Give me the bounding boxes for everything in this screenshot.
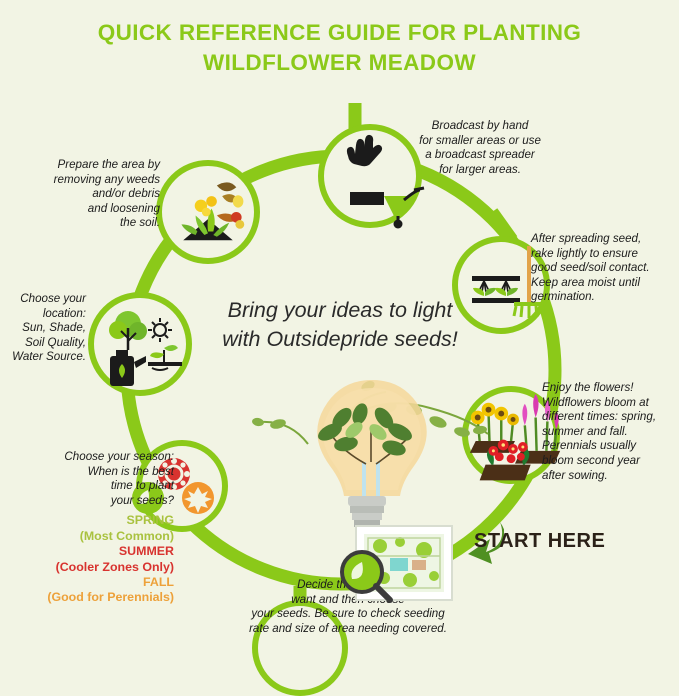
start-here-label: START HERE xyxy=(474,530,605,553)
callout-rake-lightly: After spreading seed, rake lightly to en… xyxy=(531,232,679,305)
season-question: Choose your season: When is the best tim… xyxy=(0,450,174,508)
node-choose-location[interactable] xyxy=(88,292,192,396)
infographic-canvas: QUICK REFERENCE GUIDE FOR PLANTING WILDF… xyxy=(0,0,679,679)
center-slogan: Bring your ideas to light with Outsidepr… xyxy=(190,296,490,354)
node-prepare-area[interactable] xyxy=(156,160,260,264)
season-fall-note: (Good for Perennials) xyxy=(0,590,174,605)
season-spring-name: SPRING xyxy=(0,513,174,528)
season-spring-note: (Most Common) xyxy=(0,529,174,544)
callout-choose-location: Choose your location: Sun, Shade, Soil Q… xyxy=(0,292,86,365)
callout-enjoy-flowers: Enjoy the flowers! Wildflowers bloom at … xyxy=(542,381,679,483)
weeds-and-debris-icon xyxy=(162,166,254,258)
tree-sun-wateringcan-icon xyxy=(94,298,198,402)
callout-choose-season: Choose your season: When is the best tim… xyxy=(0,450,174,606)
callout-broadcast-seed: Broadcast by hand for smaller areas or u… xyxy=(400,119,560,177)
season-fall-name: FALL xyxy=(0,575,174,590)
magnifier-icon xyxy=(338,548,394,604)
season-summer-name: SUMMER xyxy=(0,544,174,559)
season-summer-note: (Cooler Zones Only) xyxy=(0,560,174,575)
callout-prepare-area: Prepare the area by removing any weeds a… xyxy=(40,158,160,231)
